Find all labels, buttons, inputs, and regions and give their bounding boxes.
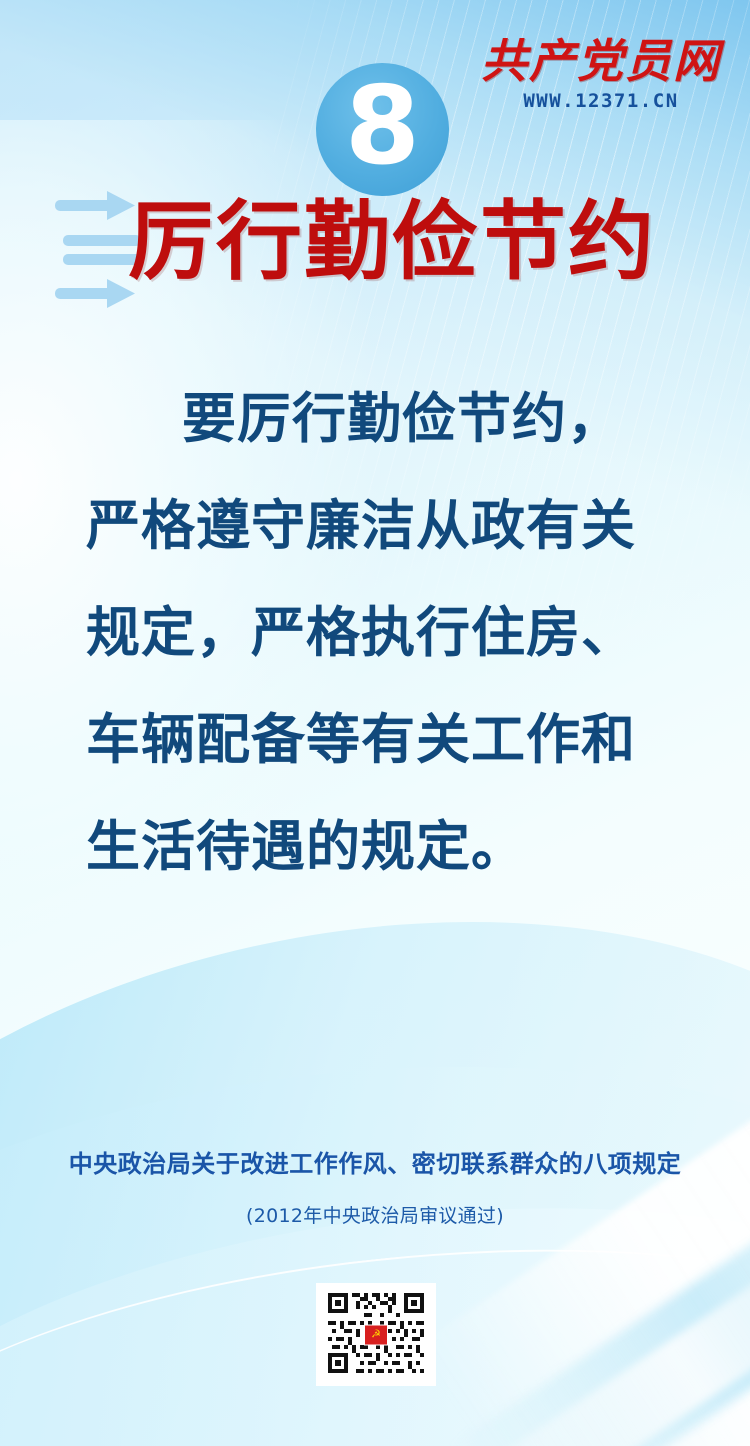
body-line: 车辆配备等有关工作和 [86,713,666,767]
page-title: 厉行勤俭节约 [128,196,656,289]
footer-block: 中央政治局关于改进工作作风、密切联系群众的八项规定 (2012年中央政治局审议通… [0,1148,750,1228]
logo-url-text: WWW.12371.CN [476,90,726,112]
body-line: 生活待遇的规定。 [86,820,666,874]
background-diagonal-band-2 [449,1090,750,1446]
body-line: 规定，严格执行住房、 [86,606,666,660]
qr-code-pattern: ☭ [324,1289,428,1381]
item-number-badge: 8 [316,63,449,196]
body-line: 严格遵守廉洁从政有关 [86,499,666,553]
site-logo[interactable]: 共产党员网 WWW.12371.CN [476,38,726,112]
poster-canvas: 共产党员网 WWW.12371.CN 8 厉行勤俭节约 要厉行勤俭节约， 严格遵… [0,0,750,1446]
footer-regulation-subtitle: (2012年中央政治局审议通过) [0,1201,750,1228]
footer-regulation-title: 中央政治局关于改进工作作风、密切联系群众的八项规定 [0,1148,750,1179]
qr-code[interactable]: ☭ [316,1283,436,1386]
body-line: 要厉行勤俭节约， [86,392,666,446]
logo-brand-text: 共产党员网 [476,38,726,84]
body-paragraph: 要厉行勤俭节约， 严格遵守廉洁从政有关 规定，严格执行住房、 车辆配备等有关工作… [86,392,666,874]
item-number-value: 8 [345,73,420,181]
party-emblem-icon: ☭ [364,1324,388,1345]
